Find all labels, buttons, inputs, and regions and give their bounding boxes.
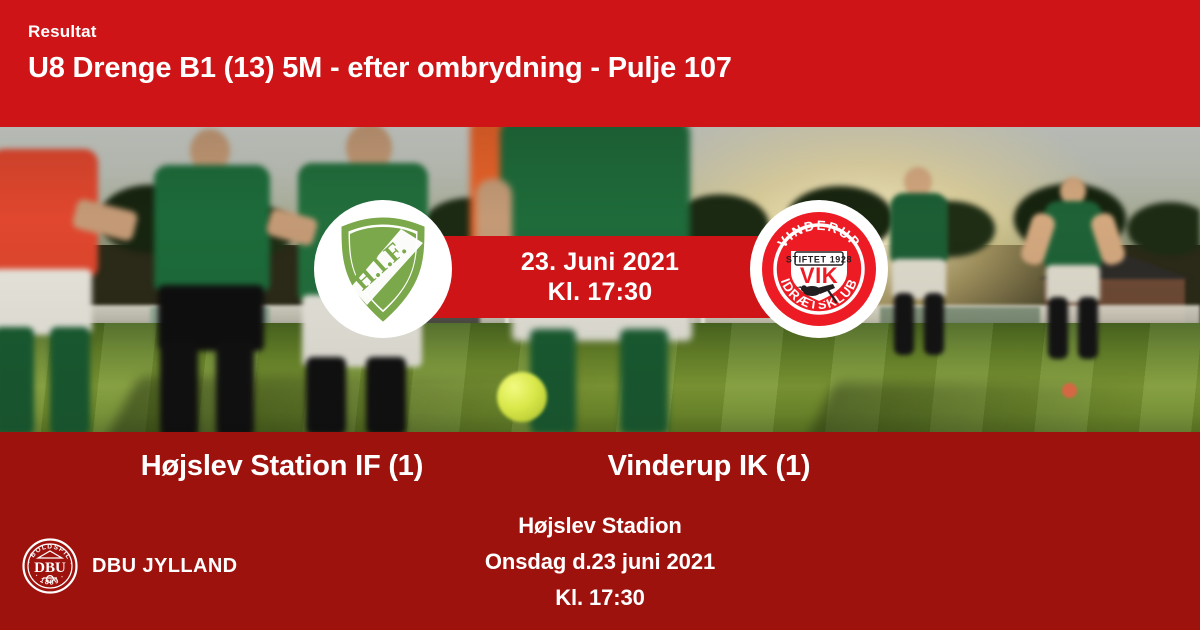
dbu-emblem-center: DBU bbox=[34, 560, 66, 576]
dbu-logo-icon: DANSK · BOLDSPIL · UNION · 1889 · DBU bbox=[22, 538, 78, 594]
away-club-badge: VINDERUP IDRÆTSKLUB STIFTET 1928 VIK bbox=[750, 200, 888, 338]
bottom-panel: Højslev Station IF (1) Vinderup IK (1) H… bbox=[0, 432, 1200, 630]
header-banner: Resultat U8 Drenge B1 (13) 5M - efter om… bbox=[0, 0, 1200, 127]
home-club-badge: H.I.F. bbox=[314, 200, 452, 338]
match-result-card: Resultat U8 Drenge B1 (13) 5M - efter om… bbox=[0, 0, 1200, 630]
team-names-row: Højslev Station IF (1) Vinderup IK (1) bbox=[0, 450, 1200, 483]
match-time: Kl. 17:30 bbox=[548, 277, 653, 307]
brand-label: DBU JYLLAND bbox=[92, 555, 238, 578]
away-team-name: Vinderup IK (1) bbox=[600, 450, 1200, 483]
header-kicker: Resultat bbox=[28, 22, 1200, 42]
dbu-jylland-brand: DANSK · BOLDSPIL · UNION · 1889 · DBU DB… bbox=[22, 538, 238, 594]
hojslev-station-if-crest-icon: H.I.F. bbox=[327, 213, 439, 325]
home-team-name: Højslev Station IF (1) bbox=[0, 450, 600, 483]
match-date: 23. Juni 2021 bbox=[521, 247, 679, 277]
football-icon bbox=[497, 372, 547, 422]
vinderup-ik-crest-icon: VINDERUP IDRÆTSKLUB STIFTET 1928 VIK bbox=[760, 210, 878, 328]
page-title: U8 Drenge B1 (13) 5M - efter ombrydning … bbox=[28, 51, 1200, 85]
